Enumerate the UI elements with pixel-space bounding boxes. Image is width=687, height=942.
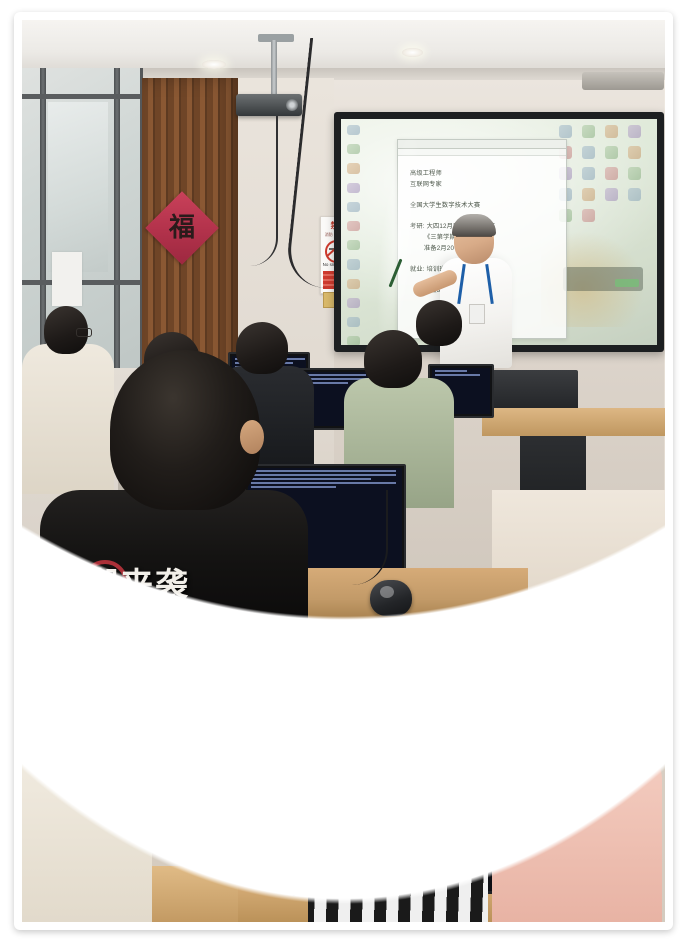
fu-character: 福 bbox=[156, 202, 208, 254]
projector-lens-icon bbox=[286, 99, 298, 111]
projector-mount-rod bbox=[271, 40, 277, 96]
desktop-icon bbox=[605, 167, 618, 180]
document-line: 全国大学生数字技术大赛 bbox=[410, 200, 557, 211]
fu-charm-decoration: 福 bbox=[145, 191, 219, 265]
desktop-icon bbox=[347, 125, 360, 135]
side-desk bbox=[482, 408, 665, 436]
foreground-student-head bbox=[110, 350, 260, 510]
wall-notice-paper bbox=[52, 252, 82, 306]
student-head bbox=[236, 322, 288, 374]
desktop-icon bbox=[347, 183, 360, 193]
window-rail bbox=[22, 94, 140, 99]
window-mullion bbox=[114, 68, 120, 368]
desktop-icon bbox=[582, 188, 595, 201]
desktop-icon bbox=[347, 202, 360, 212]
student-body bbox=[22, 708, 152, 922]
student-head bbox=[364, 330, 422, 388]
desktop-icon bbox=[582, 167, 595, 180]
glass-pane bbox=[48, 102, 108, 272]
desktop-icon bbox=[628, 188, 641, 201]
document-line: 高级工程师 bbox=[410, 168, 557, 179]
desktop-notification-popup bbox=[563, 267, 643, 291]
lecturer-id-badge bbox=[469, 304, 485, 324]
photo-stack: 禁 消防 · 安全 No smoking 奇思妙想 bbox=[22, 20, 665, 922]
desktop-icon bbox=[347, 279, 360, 289]
pc-tower bbox=[492, 370, 578, 410]
tee-print-chinese: 狂潮来袭 bbox=[50, 558, 220, 606]
computer-mouse bbox=[370, 580, 412, 616]
student-body bbox=[22, 344, 114, 494]
mouse-highlight bbox=[380, 586, 394, 598]
desktop-icon bbox=[347, 221, 360, 231]
jacket-logo-icon bbox=[92, 750, 114, 766]
desktop-icon bbox=[347, 336, 360, 345]
student-head bbox=[342, 630, 454, 754]
student-striped-shirt bbox=[308, 744, 488, 922]
foreground-student-ear bbox=[240, 420, 264, 454]
tee-print-english: ELEMENT bbox=[48, 602, 258, 632]
top-photo: 福 禁 消防 · 安全 No smoking bbox=[22, 20, 665, 632]
collage-page: 禁 消防 · 安全 No smoking 奇思妙想 bbox=[0, 0, 687, 942]
desktop-icon bbox=[605, 188, 618, 201]
desktop-icon bbox=[628, 125, 641, 138]
desktop-icon bbox=[347, 259, 360, 269]
glasses-icon bbox=[74, 672, 112, 694]
photo-collage-card: 禁 消防 · 安全 No smoking 奇思妙想 bbox=[14, 12, 673, 930]
desktop-icon bbox=[347, 317, 360, 327]
glasses-icon bbox=[516, 682, 542, 702]
desktop-icon bbox=[605, 146, 618, 159]
glasses-icon bbox=[456, 236, 492, 244]
desktop-icon bbox=[628, 146, 641, 159]
desktop-icon bbox=[347, 144, 360, 154]
desktop-icon bbox=[582, 209, 595, 222]
projector-screen-housing bbox=[582, 72, 664, 90]
ceiling-projector bbox=[236, 94, 302, 116]
ceiling-downlight bbox=[202, 60, 226, 69]
desktop-icon bbox=[628, 167, 641, 180]
projector-cable-secondary bbox=[250, 116, 278, 266]
glasses-icon bbox=[76, 328, 92, 337]
desktop-icon bbox=[347, 298, 360, 308]
desktop-icon bbox=[605, 125, 618, 138]
ceiling-downlight bbox=[402, 48, 423, 57]
desktop-icon bbox=[559, 125, 572, 138]
desktop-icon bbox=[582, 146, 595, 159]
desktop-icon bbox=[347, 240, 360, 250]
desktop-icon bbox=[582, 125, 595, 138]
desktop-icon bbox=[347, 163, 360, 173]
document-line: 互联网专家 bbox=[410, 179, 557, 190]
student-head bbox=[416, 300, 462, 346]
student-head bbox=[36, 620, 128, 720]
popup-confirm-button[interactable] bbox=[615, 279, 639, 287]
